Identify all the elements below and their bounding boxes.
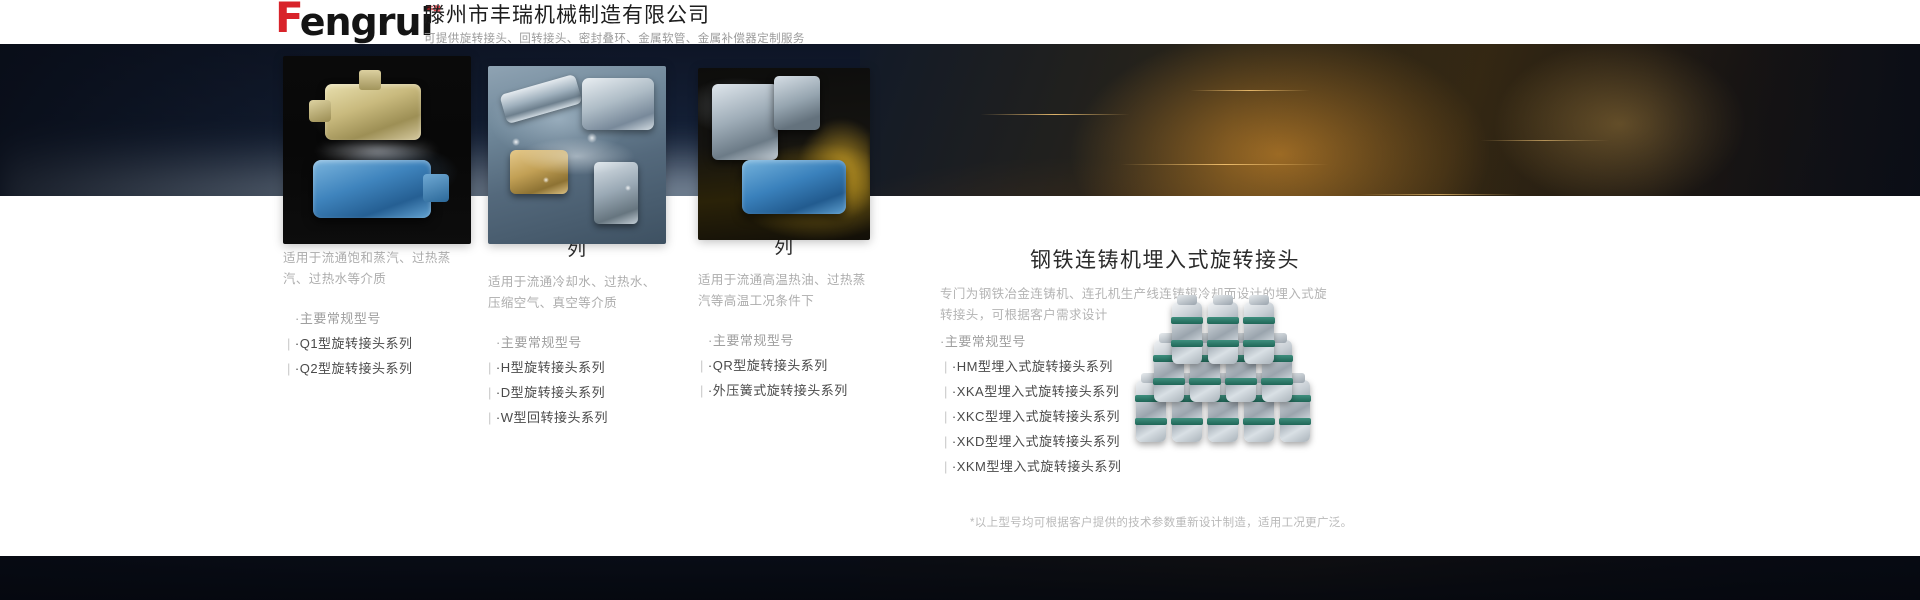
list-bar-glyph: |: [287, 361, 291, 376]
product-card[interactable]: 蒸汽旋转接头系列 适用于流通饱和蒸汽、过热蒸汽、过热水等介质 ·主要常规型号 |…: [283, 196, 471, 381]
card-list-item-label: ·外压簧式旋转接头系列: [708, 383, 848, 398]
card-description: 适用于流通饱和蒸汽、过热蒸汽、过热水等介质: [283, 248, 471, 290]
card-image-steam: [283, 56, 471, 244]
feature-panel[interactable]: 钢铁连铸机埋入式旋转接头 专门为钢铁冶金连铸机、连孔机生产线连铸辊冷却而设计的埋…: [940, 196, 1920, 556]
list-bar-glyph: |: [944, 409, 948, 424]
card-list-item[interactable]: |·Q1型旋转接头系列: [283, 331, 471, 356]
card-list-heading: ·主要常规型号: [698, 328, 870, 353]
card-list-item-label: ·W型回转接头系列: [496, 410, 608, 425]
card-list-item[interactable]: |·QR型旋转接头系列: [698, 353, 870, 378]
logo-letter-f: F: [275, 0, 302, 37]
feature-list-item-label: ·HM型埋入式旋转接头系列: [952, 359, 1113, 374]
list-bar-glyph: |: [944, 434, 948, 449]
list-bar-glyph: |: [488, 410, 492, 425]
card-model-list: ·主要常规型号 |·QR型旋转接头系列 |·外压簧式旋转接头系列: [698, 328, 870, 403]
list-bar-glyph: |: [700, 358, 704, 373]
card-list-item[interactable]: |·Q2型旋转接头系列: [283, 356, 471, 381]
card-list-item-label: ·H型旋转接头系列: [496, 360, 605, 375]
card-list-item-label: ·Q2型旋转接头系列: [295, 361, 413, 376]
feature-list-item[interactable]: |·HM型埋入式旋转接头系列: [940, 354, 1360, 379]
product-card[interactable]: 冷却水旋转接头系列 适用于流通冷却水、过热水、压缩空气、真空等介质 ·主要常规型…: [488, 196, 666, 430]
company-tagline: 可提供旋转接头、回转接头、密封叠环、金属软管、金属补偿器定制服务: [424, 32, 805, 46]
card-description: 适用于流通高温热油、过热蒸汽等高温工况条件下: [698, 270, 870, 312]
company-name: 滕州市丰瑞机械制造有限公司: [424, 4, 805, 28]
list-bar-glyph: |: [944, 359, 948, 374]
feature-list-heading: ·主要常规型号: [940, 329, 1360, 354]
feature-list-item[interactable]: |·XKA型埋入式旋转接头系列: [940, 379, 1360, 404]
content-panel: 蒸汽旋转接头系列 适用于流通饱和蒸汽、过热蒸汽、过热水等介质 ·主要常规型号 |…: [0, 196, 1920, 556]
list-bar-glyph: |: [488, 360, 492, 375]
card-description: 适用于流通冷却水、过热水、压缩空气、真空等介质: [488, 272, 666, 314]
feature-list-item[interactable]: |·XKM型埋入式旋转接头系列: [940, 454, 1360, 479]
feature-list-item[interactable]: |·XKD型埋入式旋转接头系列: [940, 429, 1360, 454]
feature-list-item-label: ·XKD型埋入式旋转接头系列: [952, 434, 1120, 449]
feature-model-list: ·主要常规型号 |·HM型埋入式旋转接头系列 |·XKA型埋入式旋转接头系列 |…: [940, 329, 1360, 479]
brand-logo[interactable]: F engrui 丰瑞: [275, 2, 449, 42]
card-list-item-label: ·Q1型旋转接头系列: [295, 336, 413, 351]
card-list-heading: ·主要常规型号: [488, 330, 666, 355]
card-list-item[interactable]: |·外压簧式旋转接头系列: [698, 378, 870, 403]
list-bar-glyph: |: [488, 385, 492, 400]
card-list-item[interactable]: |·W型回转接头系列: [488, 405, 666, 430]
card-list-item-label: ·QR型旋转接头系列: [708, 358, 828, 373]
list-bar-glyph: |: [700, 383, 704, 398]
feature-list-item-label: ·XKC型埋入式旋转接头系列: [952, 409, 1120, 424]
logo-wordmark: engrui: [300, 2, 433, 42]
list-bar-glyph: |: [287, 336, 291, 351]
feature-list-item-label: ·XKM型埋入式旋转接头系列: [952, 459, 1122, 474]
product-card[interactable]: 导热油旋转接头系列 适用于流通高温热油、过热蒸汽等高温工况条件下 ·主要常规型号…: [698, 196, 870, 403]
card-list-item[interactable]: |·D型旋转接头系列: [488, 380, 666, 405]
site-header: F engrui 丰瑞 滕州市丰瑞机械制造有限公司 可提供旋转接头、回转接头、密…: [0, 0, 1920, 44]
card-list-heading: ·主要常规型号: [283, 306, 471, 331]
card-image-thermal-oil: [698, 68, 870, 240]
feature-footnote: *以上型号均可根据客户提供的技术参数重新设计制造，适用工况更广泛。: [970, 514, 1530, 530]
card-list-item-label: ·D型旋转接头系列: [496, 385, 605, 400]
feature-title: 钢铁连铸机埋入式旋转接头: [1030, 248, 1430, 274]
card-model-list: ·主要常规型号 |·H型旋转接头系列 |·D型旋转接头系列 |·W型回转接头系列: [488, 330, 666, 430]
card-list-item[interactable]: |·H型旋转接头系列: [488, 355, 666, 380]
list-bar-glyph: |: [944, 459, 948, 474]
company-identity: 滕州市丰瑞机械制造有限公司 可提供旋转接头、回转接头、密封叠环、金属软管、金属补…: [424, 4, 805, 46]
feature-list-item[interactable]: |·XKC型埋入式旋转接头系列: [940, 404, 1360, 429]
card-image-cooling-water: [488, 66, 666, 244]
card-model-list: ·主要常规型号 |·Q1型旋转接头系列 |·Q2型旋转接头系列: [283, 306, 471, 381]
list-bar-glyph: |: [944, 384, 948, 399]
feature-list-item-label: ·XKA型埋入式旋转接头系列: [952, 384, 1119, 399]
